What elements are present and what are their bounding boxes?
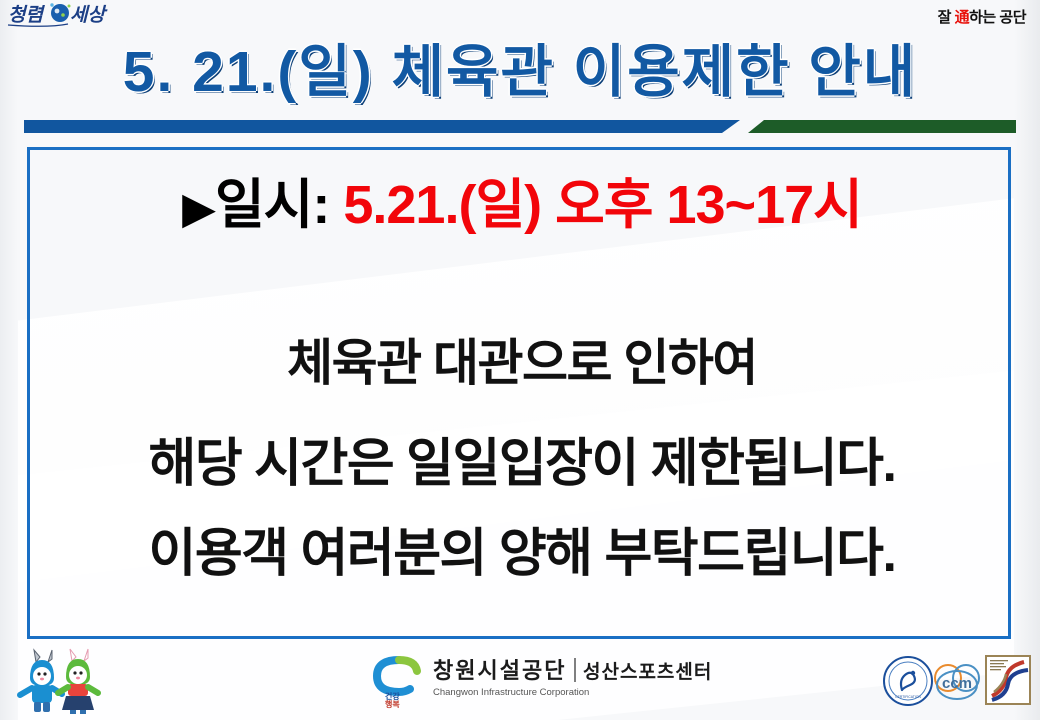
date-value: 5.21.(일) 오후 13~17시	[343, 175, 861, 235]
organization-logo: 건강 행복 창원시설공단 성산스포츠센터 Changwon Infrastruc…	[363, 652, 683, 708]
bullet-triangle-icon: ▶	[182, 184, 215, 233]
slide-header: 청렴 세상 잘 通하는 공단	[0, 0, 1040, 34]
government-certification-badge	[986, 656, 1030, 704]
mascot-green	[58, 649, 98, 714]
cheongryeom-sesang-logo: 청렴 세상	[8, 1, 130, 29]
slide-canvas: 청렴 세상 잘 通하는 공단 5. 21.(일) 체육관 이용제한 안내 ▶일시…	[0, 0, 1040, 720]
org-symbol-mark: 건강 행복	[377, 660, 417, 709]
svg-text:세상: 세상	[70, 4, 108, 26]
divider-segment-blue	[24, 120, 740, 133]
org-name-en: Changwon Infrastructure Corporation	[433, 687, 589, 698]
mascot-blue	[20, 650, 62, 712]
org-mark-label-2: 행복	[385, 699, 400, 709]
date-label: 일시:	[215, 175, 343, 235]
tagline-prefix: 잘	[938, 9, 955, 26]
background-edge-left	[0, 0, 18, 720]
notice-body-line-3: 이용객 여러분의 양해 부탁드립니다.	[30, 528, 1014, 580]
notice-content-box: ▶일시: 5.21.(일) 오후 13~17시 체육관 대관으로 인하여 해당 …	[27, 147, 1011, 639]
page-title: 5. 21.(일) 체육관 이용제한 안내	[0, 44, 1040, 101]
quality-certification-badge: CERTIFICATION	[884, 657, 932, 705]
ccm-certification-badge: ccm	[935, 665, 979, 699]
divider-segment-green	[748, 120, 1016, 133]
date-line: ▶일시: 5.21.(일) 오후 13~17시	[30, 178, 1014, 232]
tagline-suffix: 하는 공단	[969, 9, 1026, 26]
background-edge-right	[1014, 0, 1040, 720]
tagline-accent-char: 通	[955, 9, 970, 26]
svg-text:청렴: 청렴	[8, 4, 45, 26]
tagline: 잘 通하는 공단	[938, 6, 1026, 27]
org-name-ko: 창원시설공단	[433, 659, 566, 684]
slide-footer: 건강 행복 창원시설공단 성산스포츠센터 Changwon Infrastruc…	[0, 644, 1040, 720]
certification-badges: CERTIFICATION ccm	[882, 652, 1032, 710]
svg-text:CERTIFICATION: CERTIFICATION	[895, 695, 921, 699]
notice-body-line-1: 체육관 대관으로 인하여	[30, 338, 1014, 388]
divider-bar	[0, 120, 1040, 133]
ccm-badge-label: ccm	[942, 675, 972, 692]
rabbit-mascots	[10, 648, 120, 716]
notice-body-line-2: 해당 시간은 일일입장이 제한됩니다.	[30, 438, 1014, 490]
org-center-ko: 성산스포츠센터	[583, 661, 712, 683]
